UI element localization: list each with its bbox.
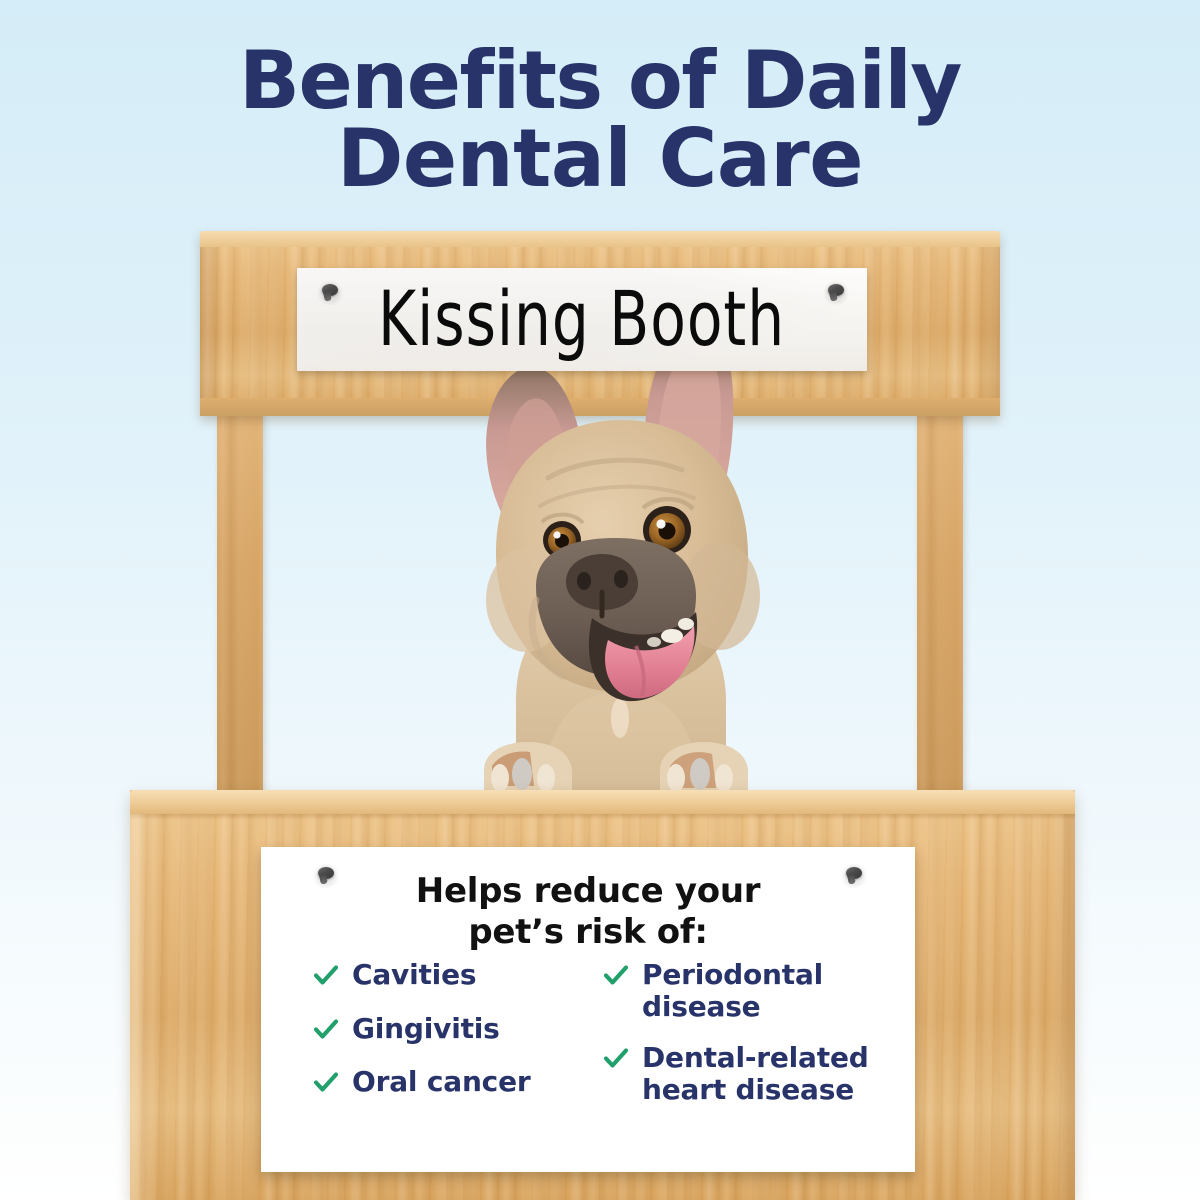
beam-right-shadow [978,247,1000,398]
kissing-booth-sign-text: Kissing Booth [297,282,867,355]
list-item: Gingivitis [313,1013,563,1045]
check-icon [313,1069,339,1095]
benefit-label: Gingivitis [352,1013,500,1045]
counter-left-highlight [130,814,156,1200]
page-title: Benefits of Daily Dental Care [0,42,1200,197]
poster-canvas: Benefits of Daily Dental Care [0,0,1200,1200]
benefits-sign: Helps reduce your pet’s risk of: Cavitie… [261,847,915,1172]
check-icon [313,1016,339,1042]
list-item: Periodontal disease [603,959,893,1022]
benefit-label: Oral cancer [352,1066,530,1098]
booth-post-right [917,412,963,794]
counter-right-shadow [1049,814,1075,1200]
benefit-label: Dental-related heart disease [642,1042,893,1105]
benefit-label: Periodontal disease [642,959,893,1022]
benefits-heading: Helps reduce your pet’s risk of: [261,871,915,954]
title-line-2: Dental Care [0,120,1200,198]
title-line-1: Benefits of Daily [0,42,1200,120]
booth-post-left [217,412,263,794]
counter-top-edge [130,790,1075,814]
list-item: Dental-related heart disease [603,1042,893,1105]
french-bulldog-illustration [430,300,810,805]
benefits-column-left: Cavities Gingivitis [313,959,563,1128]
benefit-label: Cavities [352,959,476,991]
pushpin-icon [823,280,849,306]
pushpin-icon [317,280,343,306]
beam-top-edge [200,231,1000,247]
check-icon [313,962,339,988]
benefits-heading-line-1: Helps reduce your [261,871,915,912]
counter-edge-shadow [130,814,1075,820]
benefits-column-right: Periodontal disease Dental-related heart… [603,959,893,1128]
list-item: Oral cancer [313,1066,563,1098]
list-item: Cavities [313,959,563,991]
benefits-columns: Cavities Gingivitis [313,959,885,1128]
kissing-booth-sign: Kissing Booth [297,268,867,371]
check-icon [603,1045,629,1071]
benefits-heading-line-2: pet’s risk of: [261,912,915,953]
beam-left-shadow [200,247,222,398]
check-icon [603,962,629,988]
